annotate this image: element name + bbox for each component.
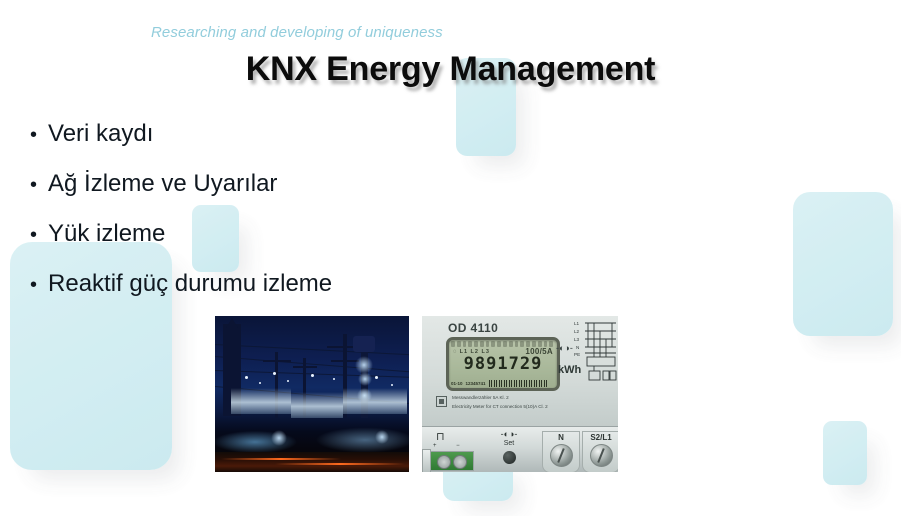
bullet-marker-icon: •	[30, 175, 37, 195]
slide-subtitle: Researching and developing of uniqueness	[151, 24, 443, 41]
list-item-label: Yük izleme	[48, 220, 165, 248]
road-light-trail	[215, 452, 409, 472]
page-title: KNX Energy Management	[0, 50, 901, 89]
bullet-marker-icon: •	[30, 125, 37, 145]
screw-icon	[550, 444, 573, 467]
list-item: • Ağ İzleme ve Uyarılar	[30, 170, 460, 198]
terminal-n: N	[542, 431, 580, 472]
terminal-s2-label: S2/L1	[583, 432, 618, 443]
wiring-diagram: L1 L2 L3 N PE	[574, 319, 618, 393]
terminal-n-label: N	[543, 432, 579, 443]
pulse-output-icon: ⊓	[436, 430, 445, 443]
polarity-label: + −	[433, 443, 469, 449]
lcd-energy-reading: 9891729	[453, 354, 553, 374]
meter-lcd-display: ◌ L1 L2 L3 100/5A 9891729 01-10 12345741	[446, 337, 560, 391]
screw-icon	[590, 444, 613, 467]
ir-eye-icon: -◐◑-	[484, 429, 534, 440]
set-label-text: Set	[504, 440, 515, 447]
bullet-marker-icon: •	[30, 275, 37, 295]
decorative-rounded-rect-small	[823, 421, 867, 485]
meter-model-label: OD 4110	[448, 321, 498, 335]
lcd-serial-number: 12345741	[466, 381, 486, 386]
protection-class-icon	[436, 396, 447, 407]
feature-bullet-list: • Veri kaydı • Ağ İzleme ve Uyarılar • Y…	[30, 120, 460, 320]
svg-text:L2: L2	[574, 329, 580, 334]
electricity-meter-photo: OD 4110 ◌ L1 L2 L3 100/5A 9891729 01-10 …	[422, 316, 618, 472]
lcd-serial-prefix: 01-10	[451, 381, 463, 386]
decorative-rounded-rect-right	[793, 192, 893, 336]
meter-front-panel: OD 4110 ◌ L1 L2 L3 100/5A 9891729 01-10 …	[422, 316, 618, 426]
meter-label-de: Messwandlerzähler 5A Kl. 2	[452, 394, 610, 403]
svg-text:PE: PE	[574, 352, 580, 357]
list-item: • Veri kaydı	[30, 120, 460, 148]
list-item: • Reaktif güç durumu izleme	[30, 270, 460, 298]
meter-type-labels: Messwandlerzähler 5A Kl. 2 Electricity M…	[452, 394, 610, 411]
barcode-icon	[489, 380, 549, 387]
list-item-label: Reaktif güç durumu izleme	[48, 270, 332, 298]
svg-text:L3: L3	[574, 337, 580, 342]
pulse-output-terminal	[430, 451, 474, 471]
svg-text:N: N	[576, 345, 579, 350]
slide-canvas: Researching and developing of uniqueness…	[0, 0, 901, 516]
meter-label-en: Electricity Meter for CT connection 5(10…	[452, 403, 610, 412]
set-button-label: -◐◑- Set	[484, 429, 534, 447]
list-item-label: Ağ İzleme ve Uyarılar	[48, 170, 277, 198]
optical-interface-icon: -◐◑-	[556, 343, 573, 353]
meter-terminal-strip: ⊓ + − -◐◑- Set N S2/L1	[422, 426, 618, 472]
set-button[interactable]	[503, 451, 516, 464]
lcd-serial-row: 01-10 12345741	[451, 380, 549, 387]
terminal-s2-l1: S2/L1	[582, 431, 618, 472]
list-item-label: Veri kaydı	[48, 120, 153, 148]
svg-text:L1: L1	[574, 321, 580, 326]
night-power-plant-photo	[215, 316, 409, 472]
bullet-marker-icon: •	[30, 225, 37, 245]
list-item: • Yük izleme	[30, 220, 460, 248]
